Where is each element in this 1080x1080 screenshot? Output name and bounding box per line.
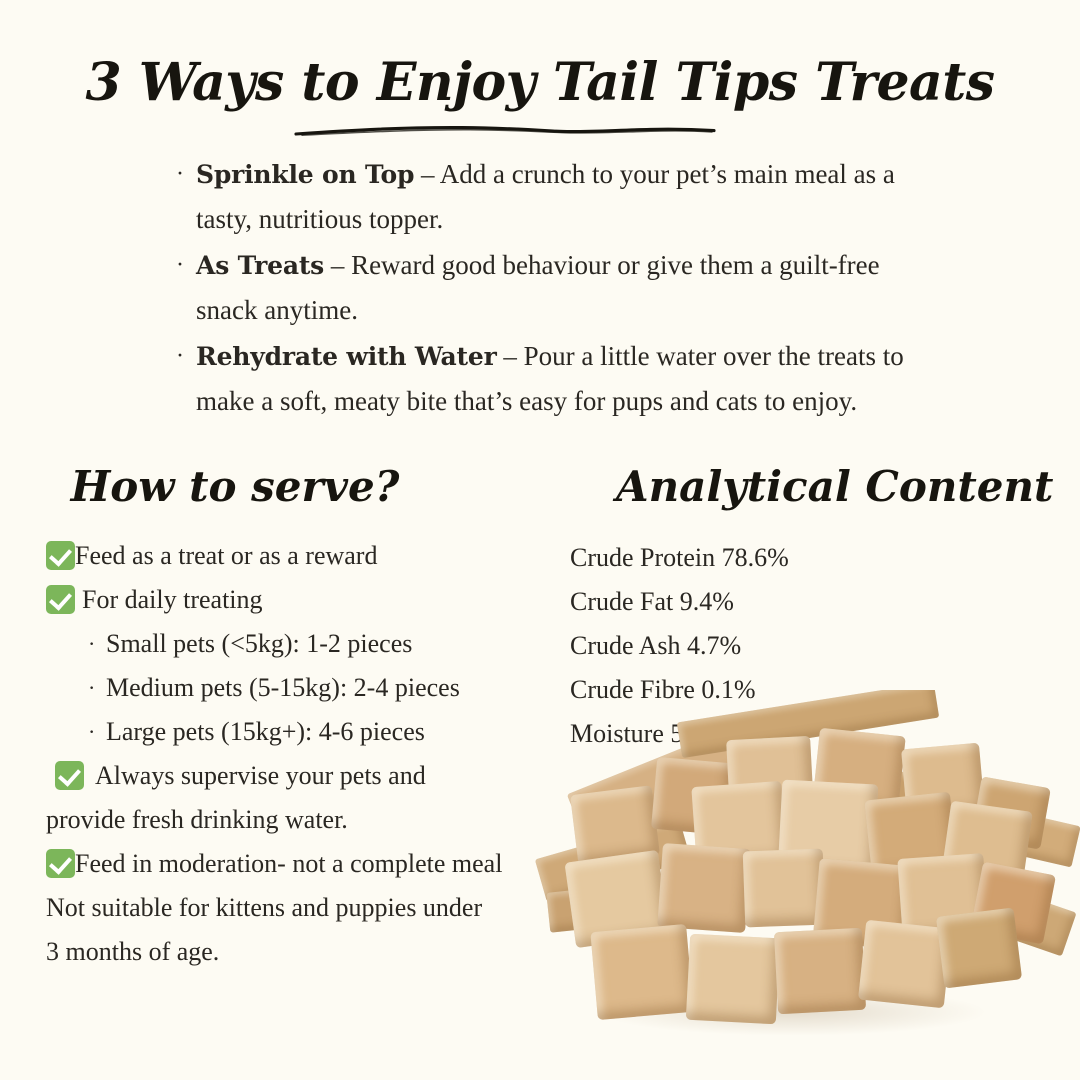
check-mark-button-icon — [46, 541, 75, 570]
list-item-label: Feed as a treat or as a reward — [75, 541, 377, 570]
list-item-lead: Rehydrate with Water — [196, 342, 497, 371]
check-mark-button-icon — [46, 585, 75, 614]
list-item-dash: – — [414, 159, 440, 189]
treat-cube — [936, 908, 1022, 989]
treat-cube — [743, 849, 826, 928]
title-divider-icon — [294, 124, 716, 138]
list-item-dash: – — [324, 250, 351, 280]
list-item-label: For daily treating — [82, 585, 263, 614]
analytical-row: Crude Fat 9.4% — [570, 580, 990, 624]
analytical-row: Crude Protein 78.6% — [570, 536, 990, 580]
supervise-note-line1: Always supervise your pets and — [95, 761, 426, 790]
bullet-icon: · — [176, 334, 184, 378]
treat-cube — [686, 934, 780, 1025]
bullet-icon: · — [176, 152, 184, 196]
analytical-row: Crude Ash 4.7% — [570, 624, 990, 668]
supervise-note: Always supervise your pets and provide f… — [46, 754, 556, 842]
how-to-serve-heading: How to serve? — [40, 462, 430, 511]
check-mark-button-icon — [46, 849, 75, 878]
ways-to-enjoy-list: · Sprinkle on Top – Add a crunch to your… — [166, 152, 926, 425]
list-item: · Rehydrate with Water – Pour a little w… — [166, 334, 926, 423]
list-item: For daily treating — [46, 578, 556, 622]
moderation-note-line2: Not suitable for kittens and puppies und… — [46, 886, 556, 930]
treat-cube — [774, 928, 866, 1014]
list-item-label: Medium pets (5-15kg): 2-4 pieces — [106, 673, 460, 702]
check-mark-button-icon — [55, 761, 84, 790]
infographic-page: 3 Ways to Enjoy Tail Tips Treats · Sprin… — [0, 0, 1080, 1080]
page-title: 3 Ways to Enjoy Tail Tips Treats — [0, 52, 1080, 113]
supervise-note-line2: provide fresh drinking water. — [46, 798, 556, 842]
list-item-label: Large pets (15kg+): 4-6 pieces — [106, 717, 425, 746]
list-item: · Sprinkle on Top – Add a crunch to your… — [166, 152, 926, 241]
treat-cube — [590, 924, 693, 1020]
moderation-note-line1: Feed in moderation- not a complete meal — [75, 849, 502, 878]
moderation-note-line3: 3 months of age. — [46, 930, 556, 974]
treat-cube — [657, 843, 751, 933]
bullet-icon: · — [176, 243, 184, 287]
product-photo — [528, 690, 1080, 1080]
moderation-note: Feed in moderation- not a complete meal … — [46, 842, 556, 974]
list-item: · Large pets (15kg+): 4-6 pieces — [46, 710, 556, 754]
how-to-serve-list: Feed as a treat or as a reward For daily… — [46, 534, 556, 974]
list-item: Feed as a treat or as a reward — [46, 534, 556, 578]
bullet-icon: · — [88, 710, 95, 754]
bullet-icon: · — [88, 666, 95, 710]
analytical-content-heading: Analytical Content — [616, 462, 1016, 511]
list-item-lead: As Treats — [196, 251, 324, 280]
list-item: · As Treats – Reward good behaviour or g… — [166, 243, 926, 332]
list-item-dash: – — [497, 341, 524, 371]
list-item: · Medium pets (5-15kg): 2-4 pieces — [46, 666, 556, 710]
list-item-label: Small pets (<5kg): 1-2 pieces — [106, 629, 412, 658]
list-item: · Small pets (<5kg): 1-2 pieces — [46, 622, 556, 666]
bullet-icon: · — [88, 622, 95, 666]
list-item-lead: Sprinkle on Top — [196, 160, 414, 189]
